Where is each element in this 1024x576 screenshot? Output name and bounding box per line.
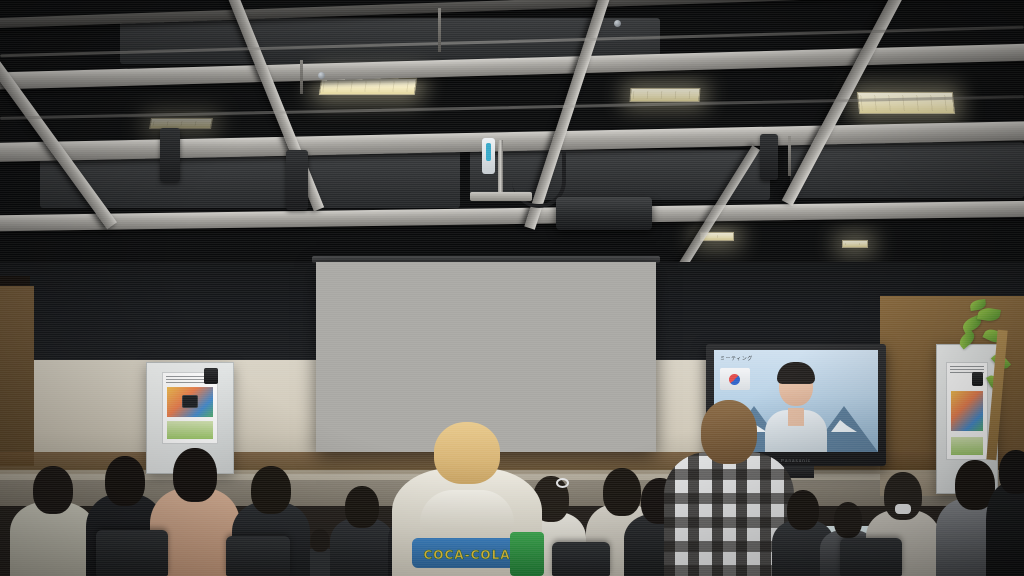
ceiling-speaker-3 <box>760 134 778 180</box>
person-head <box>999 450 1024 494</box>
chair-2[interactable] <box>226 536 290 576</box>
person-head <box>33 466 73 514</box>
audience-person-1 <box>10 456 96 576</box>
ceiling-speaker-1 <box>286 150 308 210</box>
person-head <box>173 448 217 502</box>
ceiling-light-4 <box>149 118 213 129</box>
person-head <box>434 422 500 484</box>
person-head <box>701 400 757 464</box>
ceiling <box>0 0 1024 262</box>
sprinkler-head-1 <box>318 72 325 79</box>
ceiling-hanger-4 <box>438 8 441 52</box>
person-head <box>105 456 145 506</box>
ceiling-light-1 <box>319 78 417 95</box>
ceiling-hanger-1 <box>300 60 303 94</box>
screenshot-root: 本日のゲスト 一般社団法人 ド <box>0 0 1024 576</box>
face-mask-icon <box>895 504 911 514</box>
hoodie-green-accent <box>510 532 544 576</box>
hoodie-brand-text: COCA-COLA <box>423 548 510 562</box>
hair-scrunchie-icon <box>556 478 569 488</box>
ceiling-light-6 <box>842 240 868 248</box>
projector-mount-pole <box>498 140 503 198</box>
sprinkler-head-2 <box>614 20 621 27</box>
person-head <box>834 502 862 538</box>
ceiling-speaker-2 <box>160 128 180 182</box>
chair-4[interactable] <box>840 538 902 576</box>
video-call-label: ミーティング <box>720 355 753 362</box>
ceiling-sensor <box>482 138 495 174</box>
ceiling-hanger-5 <box>788 136 791 176</box>
audience-person-hoodie: COCA-COLA <box>392 420 542 576</box>
ceiling-duct-right <box>790 142 1024 198</box>
poster-left-badge-icon <box>204 368 218 384</box>
audience-area: COCA-COLA <box>0 400 1024 576</box>
chair-3[interactable] <box>552 542 610 576</box>
person-head <box>251 466 291 514</box>
ceiling-light-3 <box>630 88 701 102</box>
chair-1[interactable] <box>96 530 168 576</box>
ceiling-projector <box>556 197 652 230</box>
remote-participant-hair <box>777 362 815 384</box>
plant-leaf-3 <box>957 330 978 350</box>
ceiling-light-2 <box>857 92 955 114</box>
person-head <box>311 529 330 552</box>
audience-person-5 <box>330 480 394 576</box>
audience-person-15 <box>986 426 1024 576</box>
video-call-thumbnail-tile[interactable] <box>720 368 750 390</box>
hoodie-hood <box>420 490 514 530</box>
person-head <box>345 486 379 528</box>
person-head <box>787 490 819 530</box>
projector-mount-arm <box>470 192 532 201</box>
person-body <box>986 482 1024 576</box>
